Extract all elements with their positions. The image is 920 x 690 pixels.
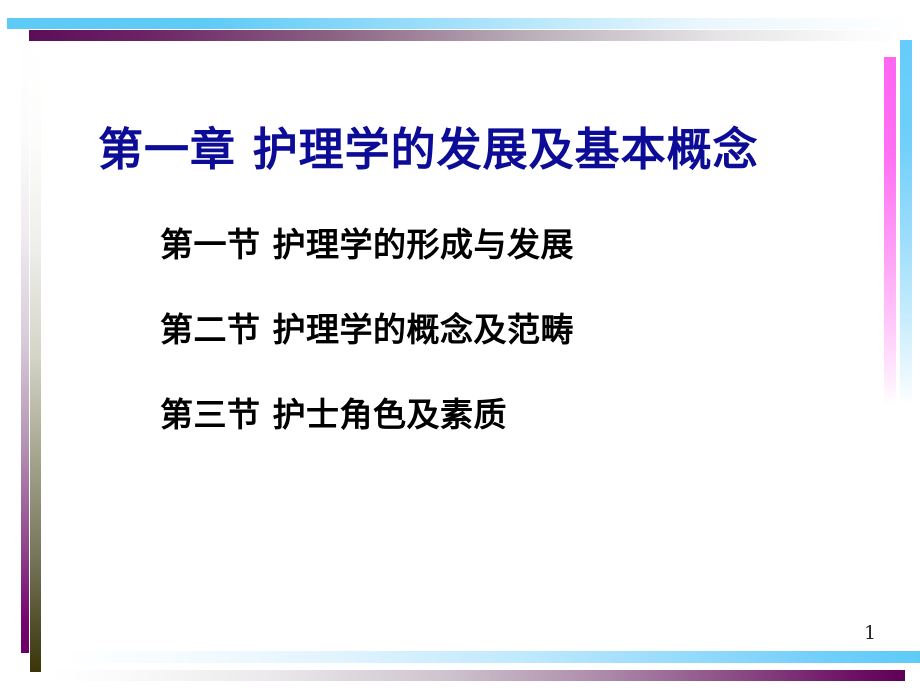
- presentation-slide: 第一章 护理学的发展及基本概念 第一节 护理学的形成与发展 第二节 护理学的概念…: [0, 0, 920, 690]
- bottom-cyan-accent-bar: [55, 651, 920, 663]
- top-cyan-accent-bar: [7, 18, 912, 29]
- section-item-1: 第一节 护理学的形成与发展: [160, 228, 800, 261]
- right-cyan-accent-bar: [900, 40, 912, 405]
- section-item-2: 第二节 护理学的概念及范畴: [160, 313, 800, 346]
- slide-title: 第一章 护理学的发展及基本概念: [98, 125, 858, 175]
- bottom-purple-accent-bar: [48, 670, 905, 681]
- section-item-3: 第三节 护士角色及素质: [160, 398, 800, 431]
- left-olive-accent-bar: [30, 41, 41, 672]
- left-purple-accent-bar: [21, 30, 29, 653]
- section-list: 第一节 护理学的形成与发展 第二节 护理学的概念及范畴 第三节 护士角色及素质: [160, 228, 800, 431]
- top-purple-accent-bar: [28, 30, 912, 41]
- right-magenta-accent-bar: [884, 57, 896, 405]
- page-number: 1: [858, 622, 882, 644]
